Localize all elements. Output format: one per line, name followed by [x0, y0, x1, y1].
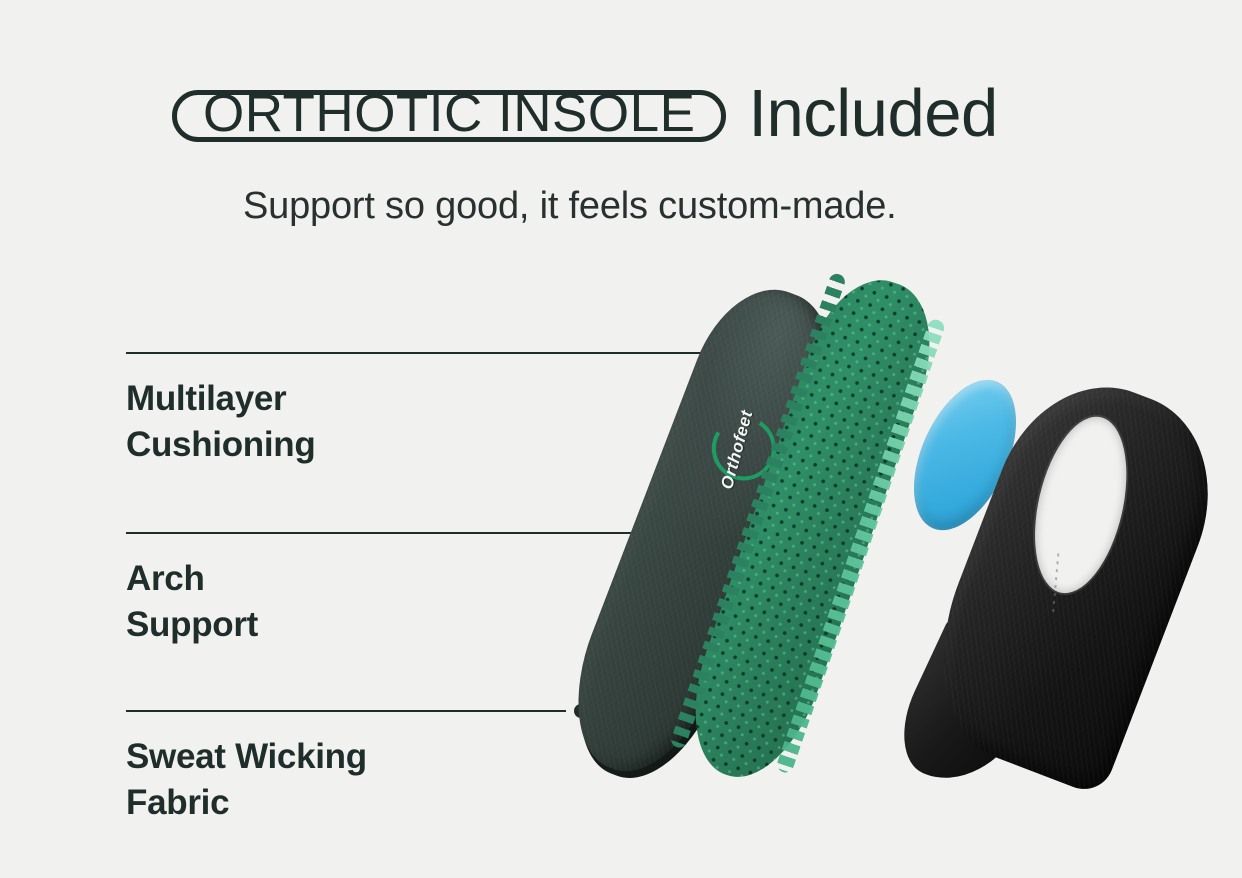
feature-callout-sweat-wicking-fabric: Sweat Wicking Fabric	[126, 704, 367, 825]
feature-label: Multilayer Cushioning	[126, 376, 315, 467]
orthotic-insole-pill: ORTHOTIC INSOLE	[172, 90, 726, 142]
feature-callout-arch-support: Arch Support	[126, 526, 258, 647]
product-photo: Orthofeet	[600, 255, 1242, 855]
infographic-canvas: ORTHOTIC INSOLE Included Support so good…	[0, 0, 1242, 878]
feature-callout-multilayer-cushioning: Multilayer Cushioning	[126, 346, 315, 467]
leader-line	[126, 704, 367, 718]
leader-line-stroke	[126, 532, 649, 534]
pill-label: ORTHOTIC INSOLE	[203, 87, 695, 140]
headline: ORTHOTIC INSOLE Included	[172, 82, 998, 149]
subtitle: Support so good, it feels custom-made.	[243, 185, 897, 228]
feature-label: Sweat Wicking Fabric	[126, 734, 367, 825]
leader-line-stroke	[126, 710, 566, 712]
leader-line	[126, 526, 258, 540]
leader-line	[126, 346, 315, 360]
included-label: Included	[748, 80, 997, 147]
feature-label: Arch Support	[126, 556, 258, 647]
